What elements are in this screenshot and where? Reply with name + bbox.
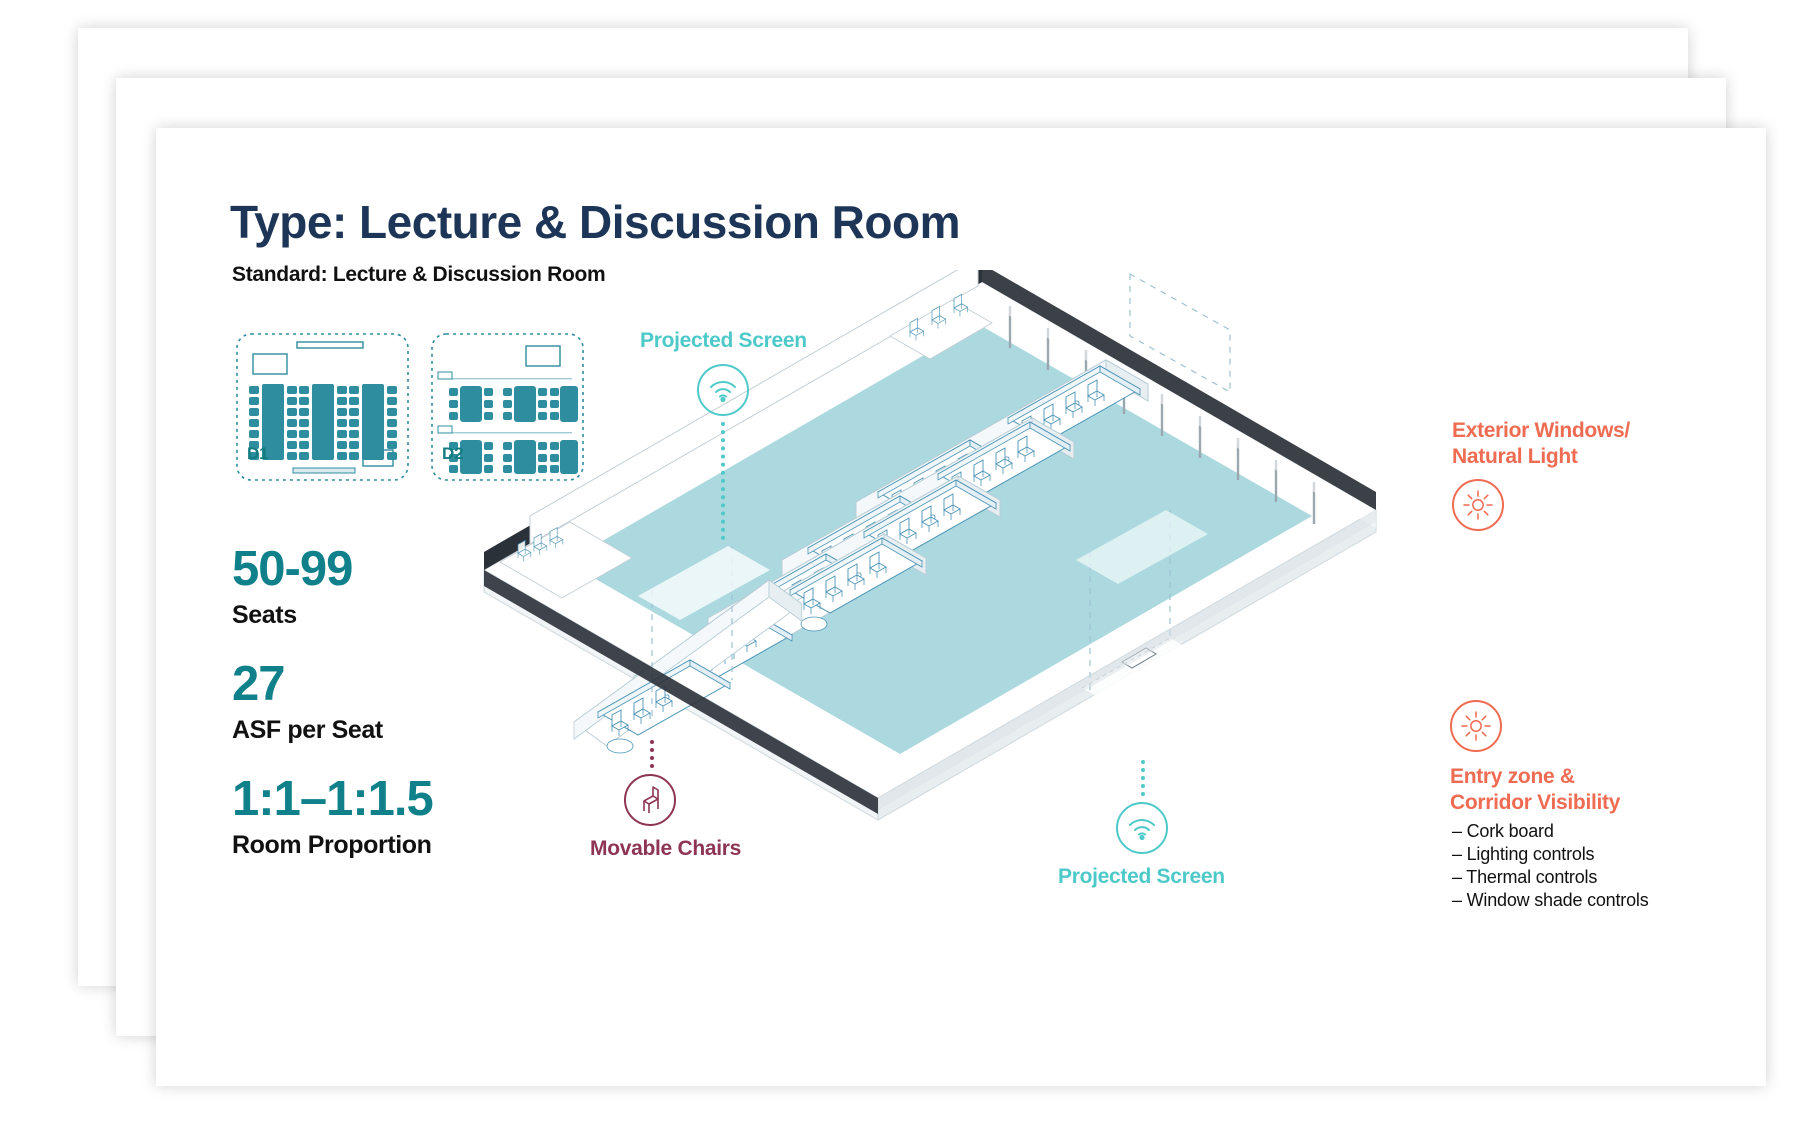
leader-line-projected-screen-bottom bbox=[1141, 760, 1145, 796]
stat-seats-value: 50-99 bbox=[232, 545, 352, 594]
entry-zone-label-line2: Corridor Visibility bbox=[1450, 790, 1620, 816]
stat-seats-label: Seats bbox=[232, 603, 352, 628]
list-item: – Cork board bbox=[1452, 820, 1649, 843]
exterior-windows-label-line2: Natural Light bbox=[1452, 444, 1630, 470]
annotation-entry-zone[interactable]: Entry zone & Corridor Visibility bbox=[1450, 700, 1620, 815]
stat-asf-label: ASF per Seat bbox=[232, 718, 383, 743]
list-item: – Thermal controls bbox=[1452, 866, 1649, 889]
list-item: – Lighting controls bbox=[1452, 843, 1649, 866]
leader-line-movable-chairs bbox=[650, 740, 654, 768]
stat-room-proportion: 1:1–1:1.5 Room Proportion bbox=[232, 775, 433, 858]
sun-icon bbox=[1450, 700, 1502, 752]
plan-label-d2: D2 bbox=[442, 444, 463, 464]
chair-icon bbox=[624, 774, 676, 826]
page-title: Type: Lecture & Discussion Room bbox=[230, 195, 960, 249]
projected-screen-top-label: Projected Screen bbox=[640, 328, 807, 354]
annotation-movable-chairs[interactable]: Movable Chairs bbox=[590, 740, 741, 862]
plan-thumbnail-d1[interactable]: D1 bbox=[235, 332, 410, 482]
entry-zone-label-line1: Entry zone & bbox=[1450, 764, 1620, 790]
annotation-projected-screen-bottom[interactable]: Projected Screen bbox=[1058, 760, 1225, 890]
plan-label-d1: D1 bbox=[247, 444, 268, 464]
stat-seats: 50-99 Seats bbox=[232, 545, 352, 628]
stat-asf-value: 27 bbox=[232, 660, 383, 709]
exterior-windows-label-line1: Exterior Windows/ bbox=[1452, 418, 1630, 444]
annotation-projected-screen-top[interactable]: Projected Screen bbox=[640, 328, 807, 540]
wifi-icon bbox=[1116, 802, 1168, 854]
annotation-exterior-windows[interactable]: Exterior Windows/ Natural Light bbox=[1452, 418, 1630, 531]
entry-zone-bullet-list: – Cork board – Lighting controls – Therm… bbox=[1452, 820, 1649, 912]
wifi-icon bbox=[697, 364, 749, 416]
stat-proportion-label: Room Proportion bbox=[232, 833, 433, 858]
stat-asf-per-seat: 27 ASF per Seat bbox=[232, 660, 383, 743]
sun-icon bbox=[1452, 479, 1504, 531]
movable-chairs-label: Movable Chairs bbox=[590, 836, 741, 862]
leader-line-projected-screen-top bbox=[721, 422, 725, 540]
list-item: – Window shade controls bbox=[1452, 889, 1649, 912]
stat-proportion-value: 1:1–1:1.5 bbox=[232, 775, 433, 824]
projected-screen-bottom-label: Projected Screen bbox=[1058, 864, 1225, 890]
